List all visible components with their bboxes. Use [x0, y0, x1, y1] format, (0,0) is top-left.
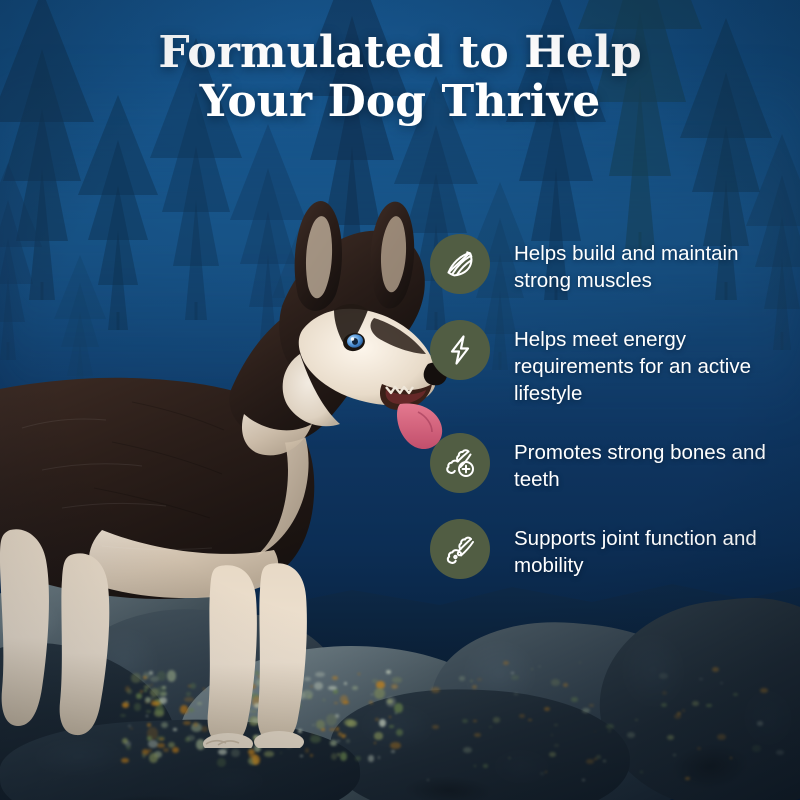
lichen-speckle — [554, 724, 558, 727]
lichen-speckle — [531, 668, 533, 670]
lichen-speckle — [757, 721, 763, 725]
lichen-speckle — [551, 679, 560, 685]
lichen-speckle — [305, 748, 309, 752]
lichen-speckle — [300, 755, 303, 758]
bone-plus-icon — [430, 433, 490, 493]
lichen-speckle — [549, 752, 557, 757]
lichen-speckle — [470, 680, 473, 682]
lichen-speckle — [519, 714, 525, 718]
lichen-speckle — [121, 758, 129, 763]
lichen-speckle — [514, 693, 518, 696]
page-title: Formulated to Help Your Dog Thrive — [0, 28, 800, 127]
benefit-item-bones: Promotes strong bones and teeth — [430, 431, 790, 493]
headline-line-2: Your Dog Thrive — [60, 77, 740, 126]
lightning-bolt-icon — [430, 320, 490, 380]
lichen-speckle — [545, 771, 547, 773]
benefit-text: Supports joint function and mobility — [514, 517, 784, 579]
benefit-text: Helps build and maintain strong muscles — [514, 232, 784, 294]
lichen-speckle — [483, 764, 488, 767]
lichen-speckle — [340, 752, 347, 760]
lichen-speckle — [662, 691, 667, 695]
lichen-speckle — [603, 760, 606, 762]
joint-icon — [430, 519, 490, 579]
lichen-speckle — [692, 701, 698, 706]
lichen-speckle — [218, 749, 227, 755]
lichen-speckle — [606, 724, 613, 729]
headline-line-1: Formulated to Help — [158, 27, 641, 78]
lichen-speckle — [706, 704, 711, 708]
lichen-speckle — [217, 758, 226, 767]
benefits-list: Helps build and maintain strong muscles … — [430, 232, 790, 579]
lichen-speckle — [231, 749, 240, 757]
lichen-speckle — [493, 717, 500, 722]
lichen-speckle — [661, 703, 667, 707]
lichen-speckle — [264, 751, 275, 756]
lichen-speckle — [697, 747, 701, 750]
lichen-speckle — [712, 667, 719, 672]
lichen-speckle — [511, 672, 513, 674]
lichen-speckle — [148, 749, 152, 752]
lichen-speckle — [596, 755, 601, 758]
lichen-speckle — [489, 726, 492, 728]
lichen-speckle — [508, 757, 511, 759]
benefit-item-energy: Helps meet energy requirements for an ac… — [430, 318, 790, 407]
benefit-item-joints: Supports joint function and mobility — [430, 517, 790, 579]
lichen-speckle — [582, 779, 585, 781]
lichen-speckle — [677, 712, 681, 715]
lichen-speckle — [474, 733, 480, 737]
lichen-speckle — [391, 750, 395, 753]
lichen-speckle — [730, 757, 733, 759]
lichen-speckle — [427, 779, 429, 781]
lichen-speckle — [280, 752, 282, 754]
marketing-poster: Formulated to Help Your Dog Thrive Helps… — [0, 0, 800, 800]
lichen-speckle — [752, 745, 761, 751]
lichen-speckle — [368, 755, 373, 761]
lichen-speckle — [582, 708, 590, 713]
lichen-speckle — [586, 759, 593, 764]
benefit-item-muscles: Helps build and maintain strong muscles — [430, 232, 790, 294]
lichen-speckle — [538, 666, 540, 668]
husky-dog-image — [0, 178, 452, 748]
lichen-speckle — [540, 772, 545, 775]
lichen-speckle — [459, 676, 466, 681]
benefit-text: Helps meet energy requirements for an ac… — [514, 318, 784, 407]
lichen-speckle — [551, 734, 554, 736]
lichen-speckle — [249, 754, 257, 758]
lichen-speckle — [355, 756, 361, 761]
lichen-speckle — [571, 697, 578, 702]
lichen-speckle — [608, 730, 611, 732]
benefit-text: Promotes strong bones and teeth — [514, 431, 784, 493]
lichen-speckle — [699, 678, 702, 680]
muscle-icon — [430, 234, 490, 294]
lichen-speckle — [331, 753, 337, 760]
lichen-speckle — [627, 732, 635, 738]
lichen-speckle — [640, 771, 643, 773]
lichen-speckle — [563, 683, 568, 686]
lichen-speckle — [511, 675, 518, 680]
lichen-speckle — [463, 747, 471, 753]
lichen-speckle — [337, 753, 340, 756]
lichen-speckle — [477, 678, 481, 681]
